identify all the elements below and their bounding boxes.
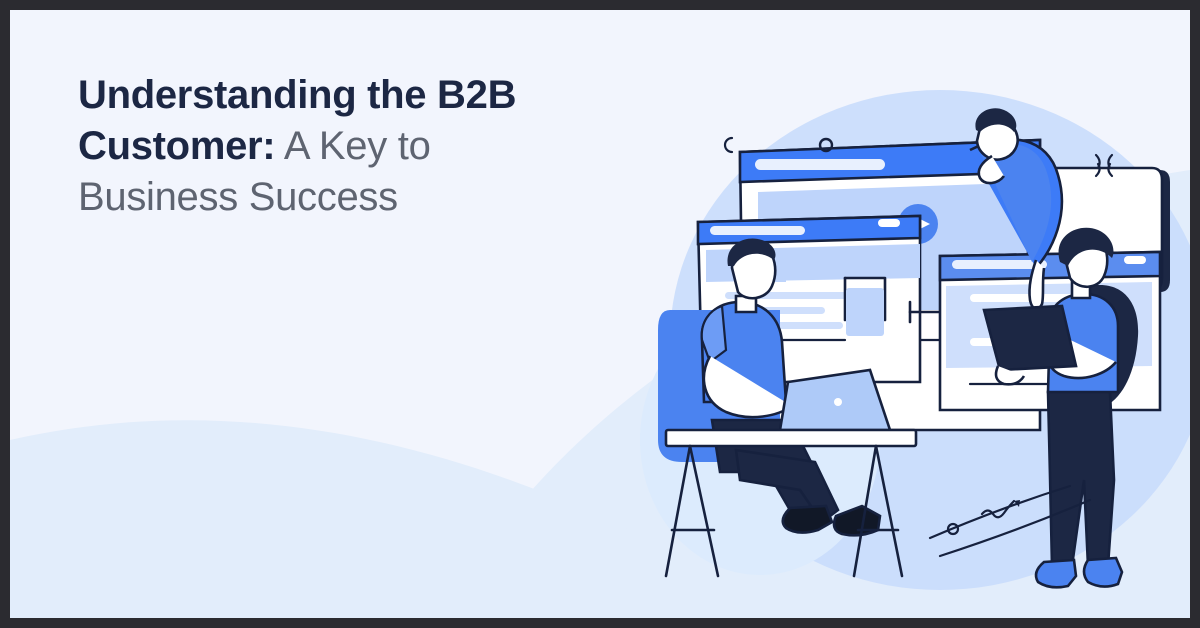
- headline-strong-1: Understanding the B2B: [78, 73, 516, 117]
- headline-soft-3: Business Success: [78, 175, 398, 219]
- banner-canvas: Understanding the B2B Customer: A Key to…: [10, 10, 1190, 618]
- arc-mark-c: [725, 138, 732, 152]
- headline-line-1: Understanding the B2B: [78, 70, 638, 121]
- address-bar-left: [710, 226, 805, 235]
- banner-frame: Understanding the B2B Customer: A Key to…: [0, 0, 1200, 628]
- address-bar-back: [755, 159, 885, 170]
- window-pill-left: [878, 219, 900, 227]
- headline-strong-2: Customer:: [78, 124, 275, 168]
- b2b-team-working-illustration: .ln { fill:none; stroke:#16213e; stroke-…: [640, 10, 1190, 618]
- illustration-svg: .ln { fill:none; stroke:#16213e; stroke-…: [640, 10, 1190, 618]
- headline-soft-2: A Key to: [275, 124, 430, 168]
- headline-line-2: Customer: A Key to: [78, 121, 638, 172]
- woman-shoe-right: [1084, 558, 1122, 587]
- headline-line-3: Business Success: [78, 172, 638, 223]
- desk-top: [666, 430, 916, 446]
- woman-shoe-left: [1036, 560, 1076, 587]
- window-pill-right: [1124, 256, 1146, 264]
- page-title: Understanding the B2B Customer: A Key to…: [78, 70, 638, 223]
- woman-tablet: [984, 306, 1076, 370]
